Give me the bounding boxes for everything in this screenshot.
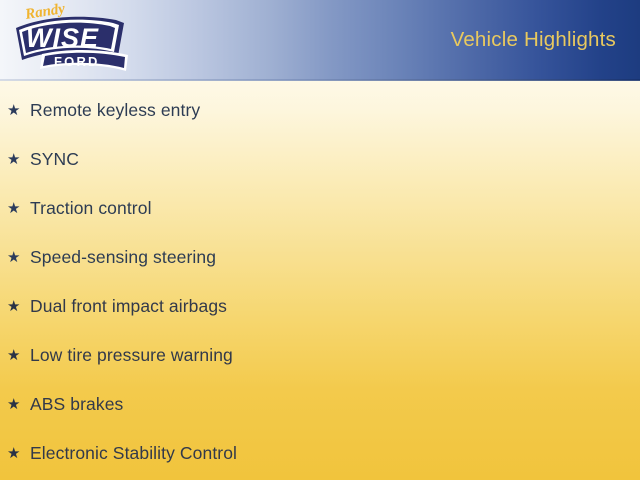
list-item-label: Dual front impact airbags — [30, 296, 227, 317]
list-item: ★ Dual front impact airbags — [0, 282, 640, 331]
vehicle-highlights-list: ★ Remote keyless entry ★ SYNC ★ Traction… — [0, 86, 640, 478]
randy-wise-ford-logo[interactable]: WISE Randy FORD — [6, 2, 138, 76]
list-item: ★ Electronic Stability Control — [0, 429, 640, 478]
star-bullet-icon: ★ — [7, 299, 20, 314]
star-bullet-icon: ★ — [7, 348, 20, 363]
list-item-label: Low tire pressure warning — [30, 345, 233, 366]
list-item-label: Traction control — [30, 198, 152, 219]
list-item: ★ SYNC — [0, 135, 640, 184]
star-bullet-icon: ★ — [7, 446, 20, 461]
page-title: Vehicle Highlights — [451, 28, 616, 52]
list-item-label: Speed-sensing steering — [30, 247, 216, 268]
star-bullet-icon: ★ — [7, 250, 20, 265]
star-bullet-icon: ★ — [7, 397, 20, 412]
list-item: ★ Speed-sensing steering — [0, 233, 640, 282]
list-item: ★ Low tire pressure warning — [0, 331, 640, 380]
star-bullet-icon: ★ — [7, 103, 20, 118]
star-bullet-icon: ★ — [7, 201, 20, 216]
header-divider — [0, 79, 640, 81]
page-header: WISE Randy FORD Vehicle Highlights — [0, 0, 640, 80]
star-bullet-icon: ★ — [7, 152, 20, 167]
list-item: ★ Remote keyless entry — [0, 86, 640, 135]
list-item-label: ABS brakes — [30, 394, 123, 415]
logo-wise-text: WISE — [26, 23, 99, 53]
list-item-label: SYNC — [30, 149, 79, 170]
list-item: ★ Traction control — [0, 184, 640, 233]
list-item: ★ ABS brakes — [0, 380, 640, 429]
list-item-label: Electronic Stability Control — [30, 443, 237, 464]
list-item-label: Remote keyless entry — [30, 100, 200, 121]
vehicle-highlights-page: WISE Randy FORD Vehicle Highlights ★ Rem… — [0, 0, 640, 480]
logo-ford-text: FORD — [54, 54, 100, 69]
